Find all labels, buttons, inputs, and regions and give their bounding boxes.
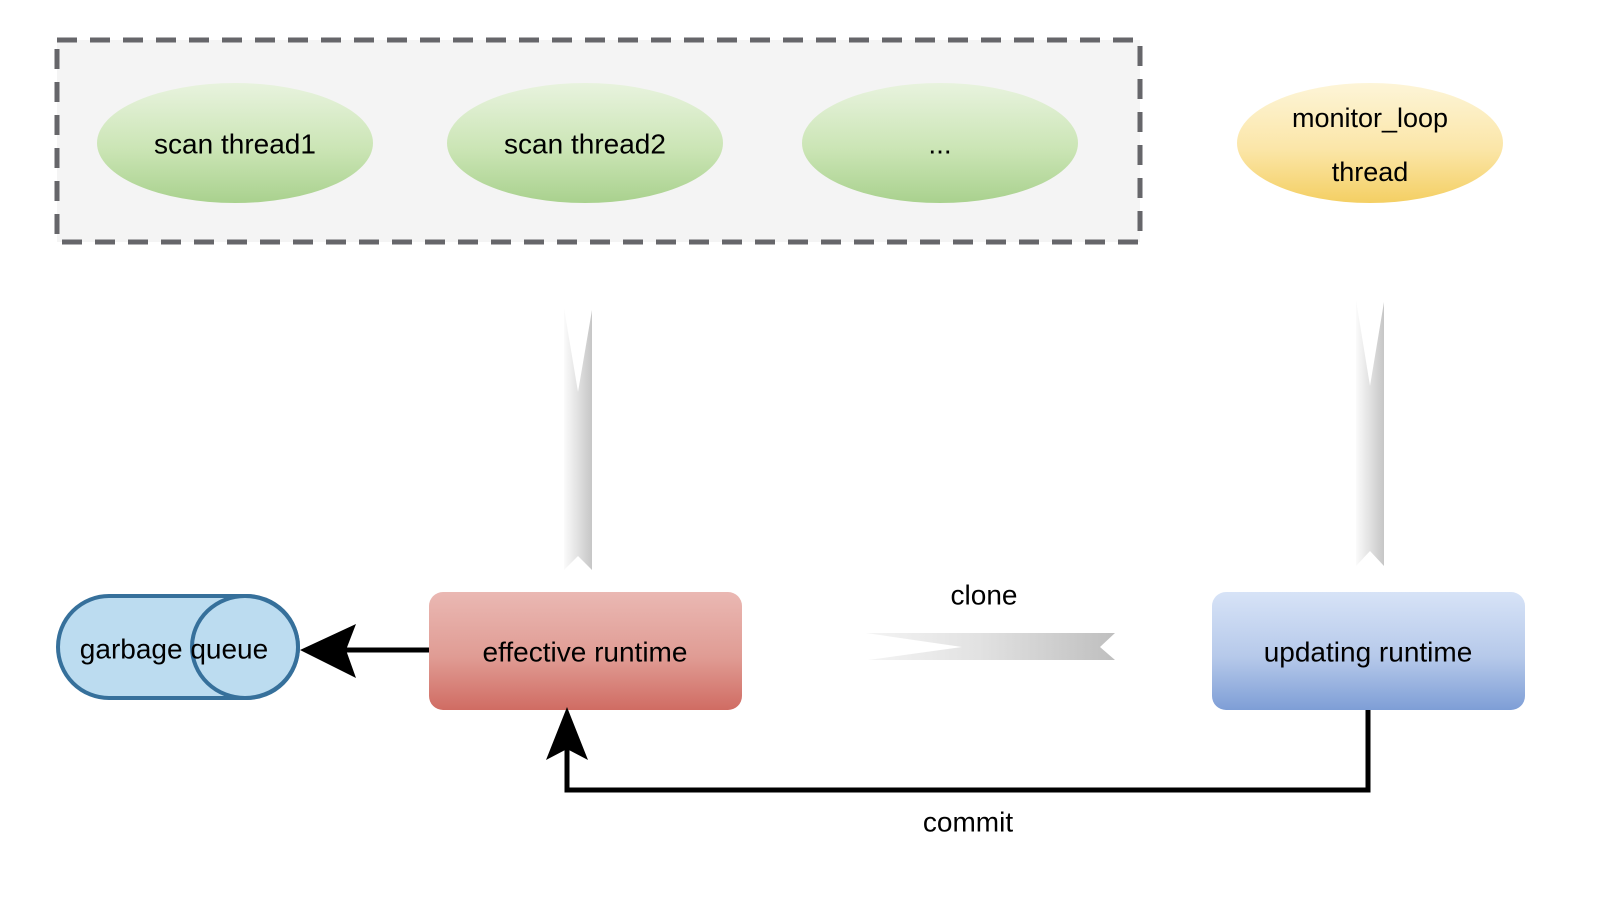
node-scan-thread-more[interactable]: ...: [802, 83, 1078, 203]
effective-runtime-label: effective runtime: [483, 636, 688, 667]
commit-edge-path: [567, 710, 1368, 790]
clone-edge-label: clone: [951, 579, 1018, 610]
scan-thread-more-label: ...: [928, 128, 951, 159]
clone-arrow-icon: [866, 633, 1115, 660]
node-updating-runtime[interactable]: updating runtime: [1212, 592, 1525, 710]
edge-clone: clone: [866, 579, 1115, 660]
diagram-canvas: scan thread1 scan thread2 ... monitor_lo…: [0, 0, 1604, 898]
updating-runtime-label: updating runtime: [1264, 636, 1473, 667]
node-scan-thread-1[interactable]: scan thread1: [97, 83, 373, 203]
edge-monitor-to-updating: [1356, 300, 1384, 566]
edge-effective-to-garbage: [300, 624, 429, 678]
commit-edge-label: commit: [923, 806, 1013, 837]
scan-thread-2-label: scan thread2: [504, 128, 666, 159]
scan-to-effective-arrow-icon: [564, 308, 592, 570]
node-monitor-loop-thread[interactable]: monitor_loop thread: [1237, 83, 1503, 203]
node-effective-runtime[interactable]: effective runtime: [429, 592, 742, 710]
node-garbage-queue[interactable]: garbage queue: [58, 596, 298, 698]
edge-scan-to-effective: [564, 308, 592, 570]
scan-thread-1-label: scan thread1: [154, 128, 316, 159]
edge-commit: commit: [546, 707, 1368, 837]
monitor-loop-thread-label-line2: thread: [1332, 157, 1409, 187]
diagram-svg: scan thread1 scan thread2 ... monitor_lo…: [0, 0, 1604, 898]
monitor-to-updating-arrow-icon: [1356, 300, 1384, 566]
monitor-loop-thread-label-line1: monitor_loop: [1292, 103, 1448, 133]
garbage-queue-label: garbage queue: [80, 633, 268, 664]
node-scan-thread-2[interactable]: scan thread2: [447, 83, 723, 203]
